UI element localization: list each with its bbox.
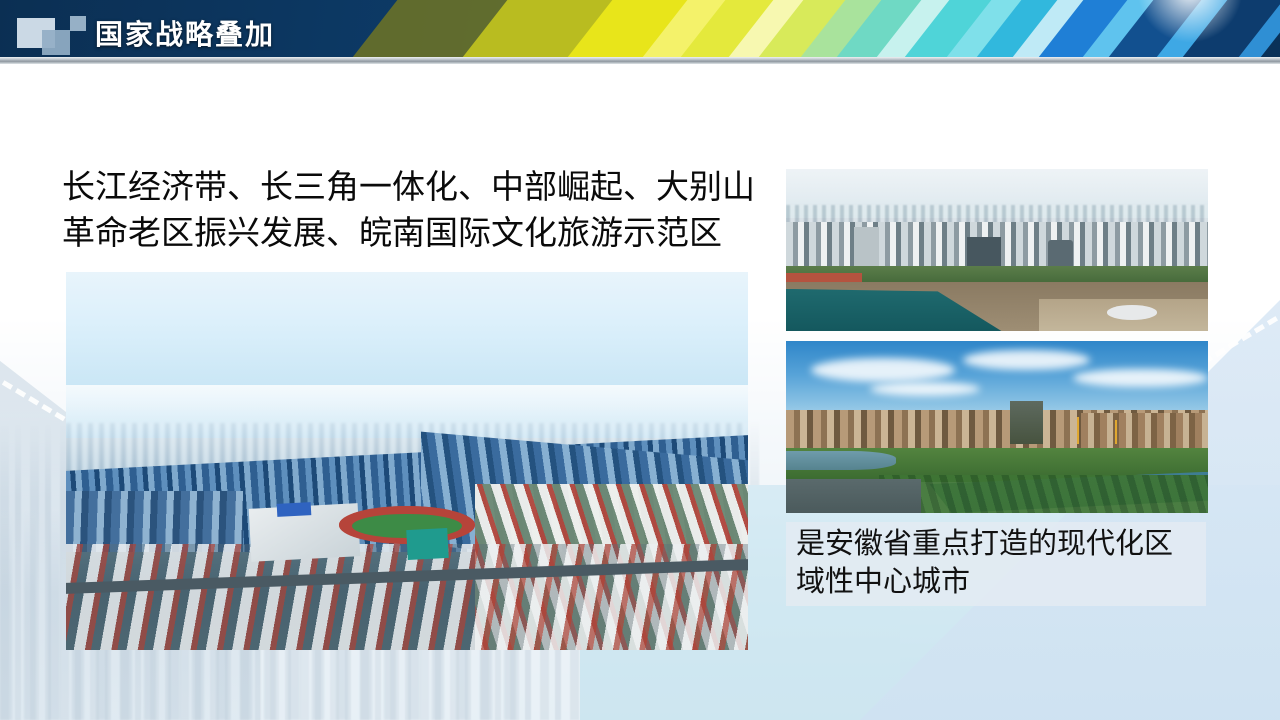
photo-tr-dome-building bbox=[1107, 305, 1158, 320]
main-text: 长江经济带、长三角一体化、中部崛起、大别山革命老区振兴发展、皖南国际文化旅游示范… bbox=[62, 164, 762, 255]
photo-br-cloud-2 bbox=[963, 350, 1090, 371]
photo-br-lake-left bbox=[786, 451, 896, 470]
page-title: 国家战略叠加 bbox=[95, 13, 275, 53]
photo-br-trees bbox=[879, 475, 1208, 513]
photo-main-blue-roof bbox=[277, 502, 312, 517]
header-stripe-group bbox=[330, 0, 1280, 57]
decor-square-medium bbox=[42, 30, 70, 55]
caption-text: 是安徽省重点打造的现代化区域性中心城市 bbox=[786, 526, 1206, 601]
photo-tr-tower-left bbox=[854, 227, 879, 269]
decor-square-small bbox=[70, 16, 86, 31]
photo-bottom-right-skyline bbox=[786, 341, 1208, 513]
header-underline bbox=[0, 57, 1280, 64]
photo-br-plaza bbox=[786, 479, 921, 513]
photo-main-court bbox=[406, 528, 448, 560]
photo-top-right-lakeside-city bbox=[786, 169, 1208, 331]
header-shine-glow bbox=[1130, 0, 1250, 50]
photo-br-cloud-4 bbox=[870, 382, 980, 396]
photo-br-crane-2 bbox=[1115, 420, 1117, 444]
photo-br-highrise-tower bbox=[1010, 401, 1044, 444]
photo-br-crane-1 bbox=[1077, 417, 1079, 445]
header-banner: 国家战略叠加 bbox=[0, 0, 1280, 57]
caption-box: 是安徽省重点打造的现代化区域性中心城市 bbox=[786, 522, 1206, 606]
photo-main-aerial-city bbox=[66, 272, 748, 650]
slide: 国家战略叠加 长江经济带、长三角一体化、中部崛起、大别山革命老区振兴发展、皖南国… bbox=[0, 0, 1280, 720]
